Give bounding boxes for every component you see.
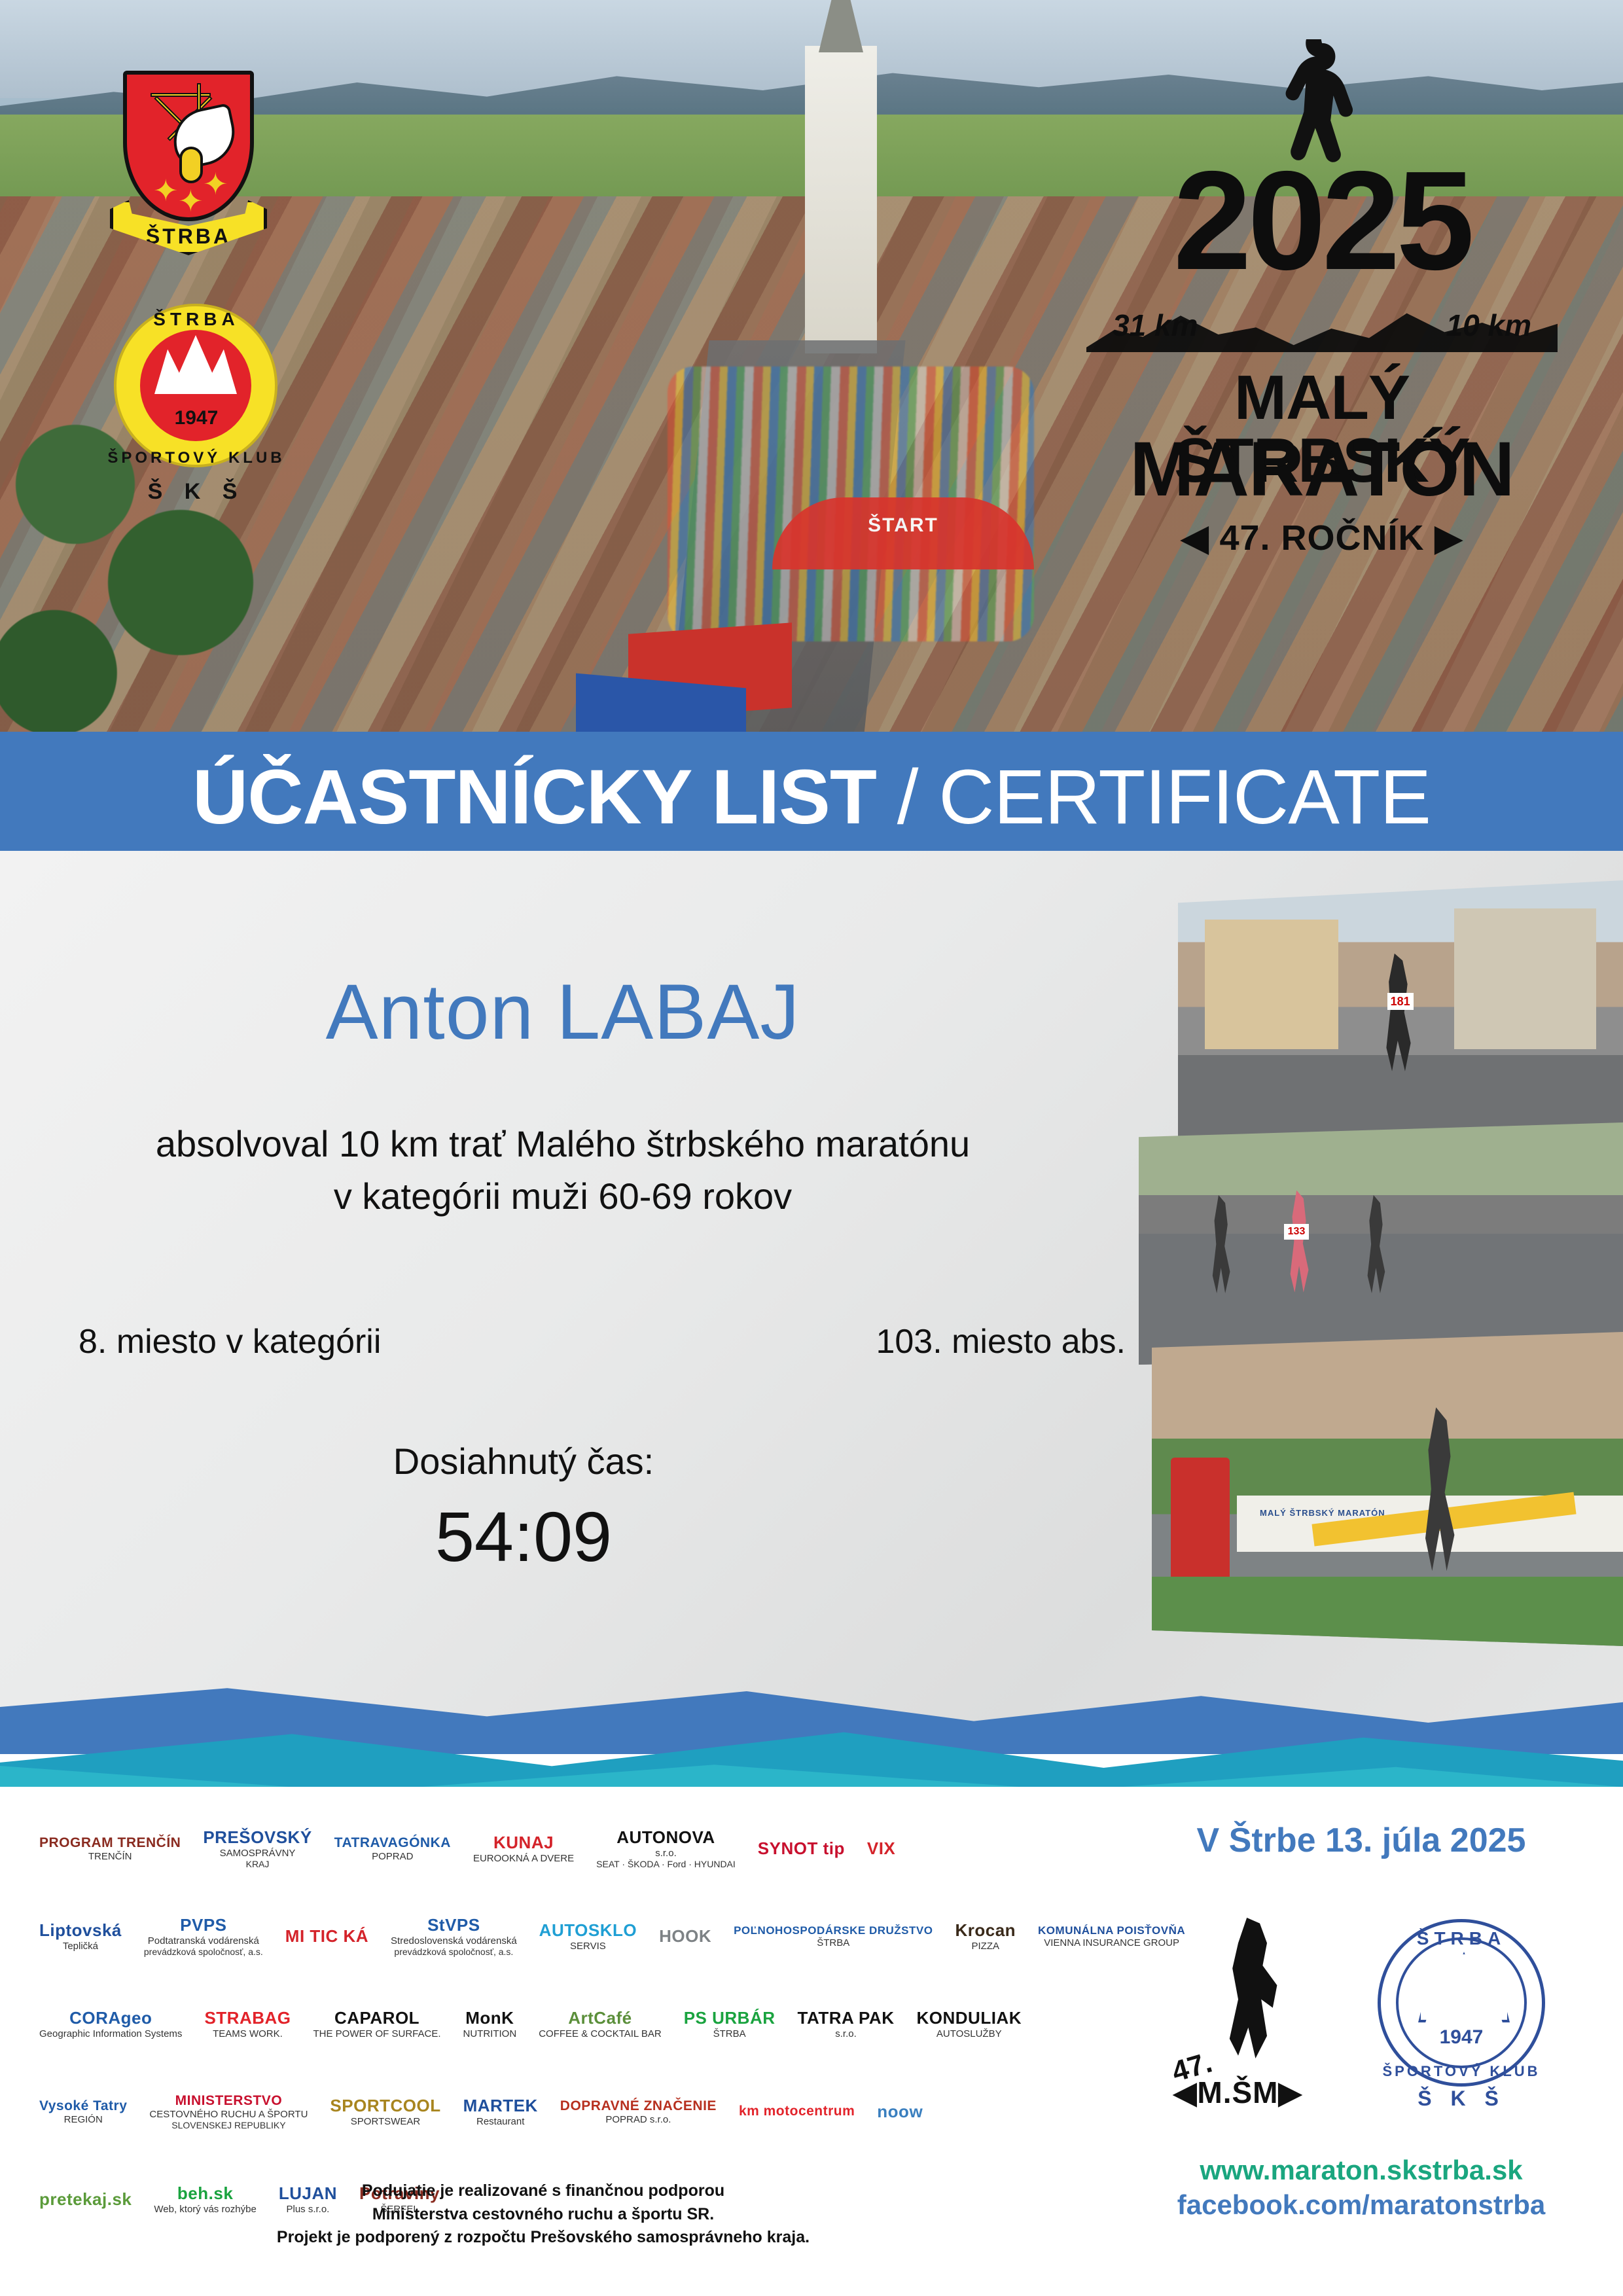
sponsor-tagline-2: KRAJ — [246, 1859, 270, 1869]
stamp-inner-circle — [1396, 1937, 1527, 2068]
sponsor-tagline: COFFEE & COCKTAIL BAR — [539, 2028, 662, 2039]
sponsor-name: PVPS — [180, 1915, 226, 1935]
sponsor-tagline: PIZZA — [971, 1941, 999, 1952]
distance-short: 10 km — [1446, 308, 1531, 343]
sponsor-logo: STRABAGTEAMS WORK. — [204, 2008, 291, 2039]
stamp-label-bottom: Š K Š — [1370, 2087, 1553, 2111]
sponsor-row: LiptovskáTepličkáPVPSPodtatranská vodáre… — [39, 1894, 1152, 1978]
stamp-label-mid: ŠPORTOVÝ KLUB — [1370, 2063, 1553, 2080]
sponsor-logo: TATRA PAKs.r.o. — [798, 2008, 895, 2039]
sponsor-name: MINISTERSTVO — [175, 2093, 283, 2109]
sponsor-tagline: SPORTSWEAR — [351, 2116, 420, 2127]
crest-mace-icon — [151, 93, 211, 97]
sponsor-tagline: SERVIS — [570, 1941, 606, 1952]
photo-female-runner: 181 — [1178, 880, 1623, 1162]
sponsor-tagline-2: SEAT · ŠKODA · Ford · HYUNDAI — [596, 1859, 736, 1869]
sponsor-tagline: EUROOKNÁ A DVERE — [473, 1853, 574, 1864]
sponsor-logo: PROGRAM TRENČÍNTRENČÍN — [39, 1835, 181, 1862]
sponsor-tagline: Podtatranská vodárenská — [148, 1935, 259, 1946]
start-arch-label: ŠTART — [868, 514, 938, 537]
sponsor-tagline: s.r.o. — [835, 2028, 857, 2039]
sponsor-tagline: CESTOVNÉHO RUCHU A ŠPORTU — [149, 2109, 308, 2120]
sponsor-logo: km motocentrum — [739, 2104, 855, 2119]
sponsor-tagline: Tepličká — [63, 1941, 98, 1952]
sponsor-logo: HOOK — [659, 1926, 711, 1946]
sks-club-logo: 1947 ŠTRBA ŠPORTOVÝ KLUB Š K Š — [105, 295, 288, 524]
event-year: 2025 — [1086, 157, 1558, 284]
sponsor-tagline: POPRAD — [372, 1851, 413, 1862]
sponsor-name: VIX — [867, 1839, 895, 1859]
start-arch: ŠTART — [772, 497, 1034, 569]
sponsor-name: DOPRAVNÉ ZNAČENIE — [560, 2098, 717, 2114]
sks-label-bottom: Š K Š — [105, 479, 288, 505]
sponsor-tagline: Restaurant — [476, 2116, 524, 2127]
sponsor-row: Vysoké TatryREGIÓNMINISTERSTVOCESTOVNÉHO… — [39, 2070, 1152, 2153]
sponsor-name: Liptovská — [39, 1920, 122, 1941]
sponsor-tagline-2: prevádzková spoločnosť, a.s. — [144, 1946, 263, 1957]
sponsor-row: PROGRAM TRENČÍNTRENČÍNPREŠOVSKÝSAMOSPRÁV… — [39, 1806, 1152, 1890]
sponsor-logo: VIX — [867, 1839, 895, 1859]
msm-abbreviation: ◀M.ŠM▶ — [1173, 2075, 1302, 2110]
sponsor-tagline: ŠTRBA — [817, 1937, 849, 1948]
sponsor-logo: AUTONOVAs.r.o.SEAT · ŠKODA · Ford · HYUN… — [596, 1827, 736, 1869]
facebook-url[interactable]: facebook.com/maratonstrba — [1139, 2188, 1584, 2223]
place-in-category: 8. miesto v kategórii — [79, 1322, 381, 1361]
funding-line-1: Podujatie je realizované s finančnou pod… — [39, 2179, 1047, 2203]
sponsor-logo: SPORTCOOLSPORTSWEAR — [330, 2096, 440, 2127]
description-line-1: absolvoval 10 km trať Malého štrbského m… — [0, 1118, 1126, 1170]
sponsor-name: MI TIC KÁ — [285, 1926, 368, 1946]
funding-line-3: Projekt je podporený z rozpočtu Prešovsk… — [39, 2226, 1047, 2250]
sponsor-name: StVPS — [427, 1915, 480, 1935]
sponsor-logo: KUNAJEUROOKNÁ A DVERE — [473, 1833, 574, 1864]
sks-label-top: ŠTRBA — [105, 309, 288, 330]
finish-time: 54:09 — [0, 1496, 1047, 1577]
sponsor-name: CAPAROL — [334, 2008, 419, 2028]
church-tower — [805, 46, 877, 353]
title-separator: / — [876, 754, 938, 840]
sponsor-tagline: ŠTRBA — [713, 2028, 746, 2039]
placement-row: 8. miesto v kategórii 103. miesto abs. — [79, 1322, 1126, 1361]
description-line-2: v kategórii muži 60-69 rokov — [0, 1170, 1126, 1223]
footer: V Štrbe 13. júla 2025 47. ◀M.ŠM▶ 1947 ŠT… — [0, 1787, 1623, 2296]
sponsor-row: CORAgeoGeographic Information SystemsSTR… — [39, 1982, 1152, 2066]
sponsor-name: SYNOT tip — [758, 1839, 845, 1859]
sponsor-logo: KONDULIAKAUTOSLUŽBY — [916, 2008, 1022, 2039]
sponsor-tagline: TRENČÍN — [88, 1851, 132, 1862]
sponsor-tagline: POPRAD s.r.o. — [605, 2114, 671, 2125]
sponsor-name: TATRAVAGÓNKA — [334, 1835, 451, 1851]
sponsor-name: AUTONOVA — [616, 1827, 715, 1848]
page-title: ÚČASTNÍCKY LIST / CERTIFICATE — [0, 753, 1623, 842]
event-distances: 31 km 10 km — [1086, 308, 1558, 343]
strba-coat-of-arms: ✦ ✦ ✦ ŠTRBA — [110, 71, 267, 267]
sponsor-name: km motocentrum — [739, 2104, 855, 2119]
sponsor-name: Vysoké Tatry — [39, 2098, 127, 2114]
stamp-label-top: ŠTRBA — [1370, 1928, 1553, 1949]
sponsor-logo: MARTEKRestaurant — [463, 2096, 538, 2127]
house-left — [1205, 920, 1338, 1049]
sponsor-name: ArtCafé — [568, 2008, 632, 2028]
issue-date: V Štrbe 13. júla 2025 — [1139, 1821, 1584, 1860]
sponsor-logo: MINISTERSTVOCESTOVNÉHO RUCHU A ŠPORTUSLO… — [149, 2093, 308, 2130]
sponsor-tagline: TEAMS WORK. — [213, 2028, 283, 2039]
house-right — [1454, 908, 1597, 1049]
sponsor-tagline: AUTOSLUŽBY — [936, 2028, 1002, 2039]
sponsor-logo: ArtCaféCOFFEE & COCKTAIL BAR — [539, 2008, 662, 2039]
sponsor-logo: PVPSPodtatranská vodárenskáprevádzková s… — [144, 1915, 263, 1957]
funding-disclaimer: Podujatie je realizované s finančnou pod… — [39, 2179, 1047, 2250]
spectator-folk-costume — [1171, 1458, 1230, 1595]
sponsor-name: KUNAJ — [493, 1833, 554, 1853]
sponsor-name: PREŠOVSKÝ — [203, 1827, 312, 1848]
sponsor-logo: LiptovskáTepličká — [39, 1920, 122, 1952]
sponsor-logo: AUTOSKLOSERVIS — [539, 1920, 637, 1952]
runner-figure — [1378, 954, 1419, 1071]
sponsor-name: KONDULIAK — [916, 2008, 1022, 2028]
sponsor-logo: PS URBÁRŠTRBA — [684, 2008, 776, 2039]
sks-label-mid: ŠPORTOVÝ KLUB — [105, 449, 288, 467]
sponsor-name: MARTEK — [463, 2096, 538, 2116]
place-absolute: 103. miesto abs. — [876, 1322, 1126, 1361]
sponsor-logo: SYNOT tip — [758, 1839, 845, 1859]
photo-runner-group: 133 — [1139, 1122, 1623, 1365]
sponsor-tagline-2: SLOVENSKEJ REPUBLIKY — [171, 2120, 285, 2130]
certificate-description: absolvoval 10 km trať Malého štrbského m… — [0, 1118, 1126, 1222]
sponsor-tagline: Geographic Information Systems — [39, 2028, 182, 2039]
sponsor-logo: DOPRAVNÉ ZNAČENIEPOPRAD s.r.o. — [560, 2098, 717, 2125]
sponsor-name: KOMUNÁLNA POISŤOVŇA — [1038, 1924, 1185, 1937]
sponsor-tagline: THE POWER OF SURFACE. — [313, 2028, 441, 2039]
funding-line-2: Ministerstva cestovného ruchu a športu S… — [39, 2203, 1047, 2227]
sponsor-tagline-2: prevádzková spoločnosť, a.s. — [394, 1946, 513, 1957]
sponsor-logo: MI TIC KÁ — [285, 1926, 368, 1946]
sponsor-name: CORAgeo — [69, 2008, 152, 2028]
sponsor-logo: CORAgeoGeographic Information Systems — [39, 2008, 182, 2039]
bib-number-181: 181 — [1387, 993, 1414, 1010]
sponsor-logo: StVPSStredoslovenská vodárenskáprevádzko… — [391, 1915, 517, 1957]
certificate-text-block: Anton LABAJ absolvoval 10 km trať Malého… — [0, 969, 1126, 1222]
sponsor-name: noow — [877, 2102, 923, 2122]
web-links: www.maraton.skstrba.sk facebook.com/mara… — [1139, 2153, 1584, 2222]
sponsor-logo: Vysoké TatryREGIÓN — [39, 2098, 127, 2125]
sponsor-logo: noow — [877, 2102, 923, 2122]
sponsor-name: HOOK — [659, 1926, 711, 1946]
sponsor-tagline: REGIÓN — [64, 2114, 103, 2125]
sponsor-logo: POĽNOHOSPODÁRSKE DRUŽSTVOŠTRBA — [734, 1924, 933, 1948]
crest-ribbon-label: ŠTRBA — [113, 224, 264, 249]
msm-47-logo: 47. ◀M.ŠM▶ — [1169, 1911, 1333, 2108]
crest-cuff-icon — [179, 147, 203, 183]
sponsor-name: PS URBÁR — [684, 2008, 776, 2028]
event-name-line2: MARATÓN — [1086, 431, 1558, 508]
title-sk: ÚČASTNÍCKY LIST — [192, 754, 876, 840]
sponsor-tagline: VIENNA INSURANCE GROUP — [1044, 1937, 1179, 1948]
sponsor-tagline: NUTRITION — [463, 2028, 517, 2039]
bottom-wave-decoration — [0, 1676, 1623, 1800]
sponsor-tagline: Stredoslovenská vodárenská — [391, 1935, 517, 1946]
title-en: CERTIFICATE — [938, 754, 1431, 840]
sponsor-name: STRABAG — [204, 2008, 291, 2028]
sponsor-logo: KrocanPIZZA — [955, 1920, 1016, 1952]
sponsor-tagline: s.r.o. — [655, 1848, 677, 1859]
event-logo: 2025 31 km 10 km MALÝ ŠTRBSKÝ MARATÓN ◀ … — [1086, 39, 1558, 589]
footer-logo-group: 47. ◀M.ŠM▶ 1947 ŠTRBA ŠPORTOVÝ KLUB Š K … — [1139, 1892, 1584, 2127]
sponsor-name: SPORTCOOL — [330, 2096, 440, 2116]
sponsor-name: Krocan — [955, 1920, 1016, 1941]
grass-strip — [1152, 1577, 1623, 1646]
participant-name: Anton LABAJ — [0, 969, 1126, 1055]
sponsor-name: TATRA PAK — [798, 2008, 895, 2028]
sponsor-logo: CAPAROLTHE POWER OF SURFACE. — [313, 2008, 441, 2039]
sponsor-logo: TATRAVAGÓNKAPOPRAD — [334, 1835, 451, 1862]
event-edition: ◀ 47. ROČNÍK ▶ — [1086, 517, 1558, 558]
stamp-year: 1947 — [1370, 2026, 1553, 2049]
bib-number-133: 133 — [1284, 1224, 1309, 1240]
time-label: Dosiahnutý čas: — [0, 1440, 1047, 1482]
sponsor-tagline: SAMOSPRÁVNY — [220, 1848, 296, 1859]
sponsor-name: MonK — [465, 2008, 514, 2028]
sponsor-name: PROGRAM TRENČÍN — [39, 1835, 181, 1851]
sponsor-name: POĽNOHOSPODÁRSKE DRUŽSTVO — [734, 1924, 933, 1937]
runner-silhouette-icon — [1217, 1918, 1289, 2058]
sponsor-logo: KOMUNÁLNA POISŤOVŇAVIENNA INSURANCE GROU… — [1038, 1924, 1185, 1948]
sponsor-logo: MonKNUTRITION — [463, 2008, 517, 2039]
photo-collage: 181 133 MALÝ ŠTRBSKÝ MARATÓN — [1139, 880, 1623, 1731]
sks-club-stamp: 1947 ŠTRBA ŠPORTOVÝ KLUB Š K Š — [1370, 1911, 1553, 2108]
sponsor-logo: PREŠOVSKÝSAMOSPRÁVNYKRAJ — [203, 1827, 312, 1869]
distance-long: 31 km — [1113, 308, 1198, 343]
sks-founded-year: 1947 — [105, 407, 288, 429]
sponsor-name: AUTOSKLO — [539, 1920, 637, 1941]
banner-text: MALÝ ŠTRBSKÝ MARATÓN — [1260, 1508, 1385, 1518]
photo-finish-line: MALÝ ŠTRBSKÝ MARATÓN — [1152, 1332, 1623, 1646]
website-url[interactable]: www.maraton.skstrba.sk — [1139, 2153, 1584, 2188]
